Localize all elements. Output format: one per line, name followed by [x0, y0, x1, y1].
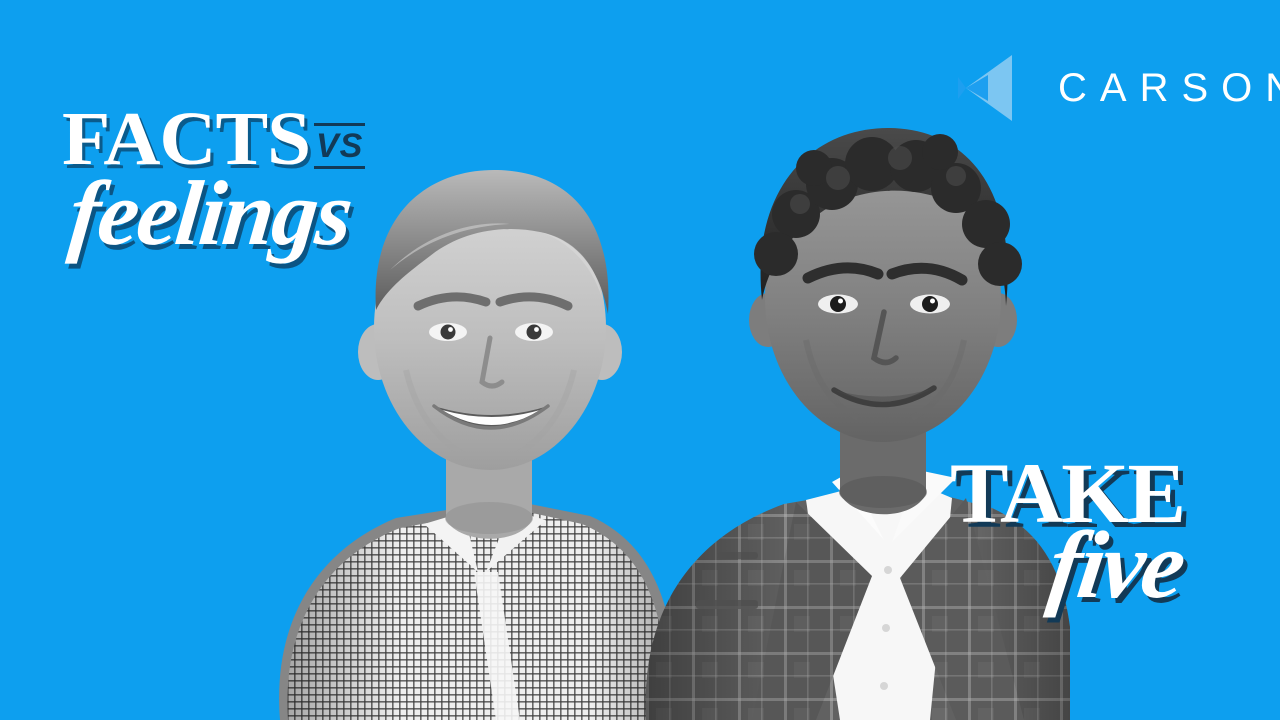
- podcast-cover-art: CARSON FACTS VS feelings TAKE five: [0, 0, 1280, 720]
- carson-wordmark: CARSON: [1058, 66, 1280, 111]
- carson-logo[interactable]: CARSON: [958, 55, 1280, 121]
- show-logo[interactable]: FACTS VS feelings: [62, 105, 402, 265]
- segment-logo[interactable]: TAKE five: [950, 455, 1250, 630]
- show-logo-feelings: feelings: [65, 167, 355, 259]
- carson-chevron-mark: [958, 55, 1012, 121]
- segment-logo-five: five: [1043, 517, 1188, 613]
